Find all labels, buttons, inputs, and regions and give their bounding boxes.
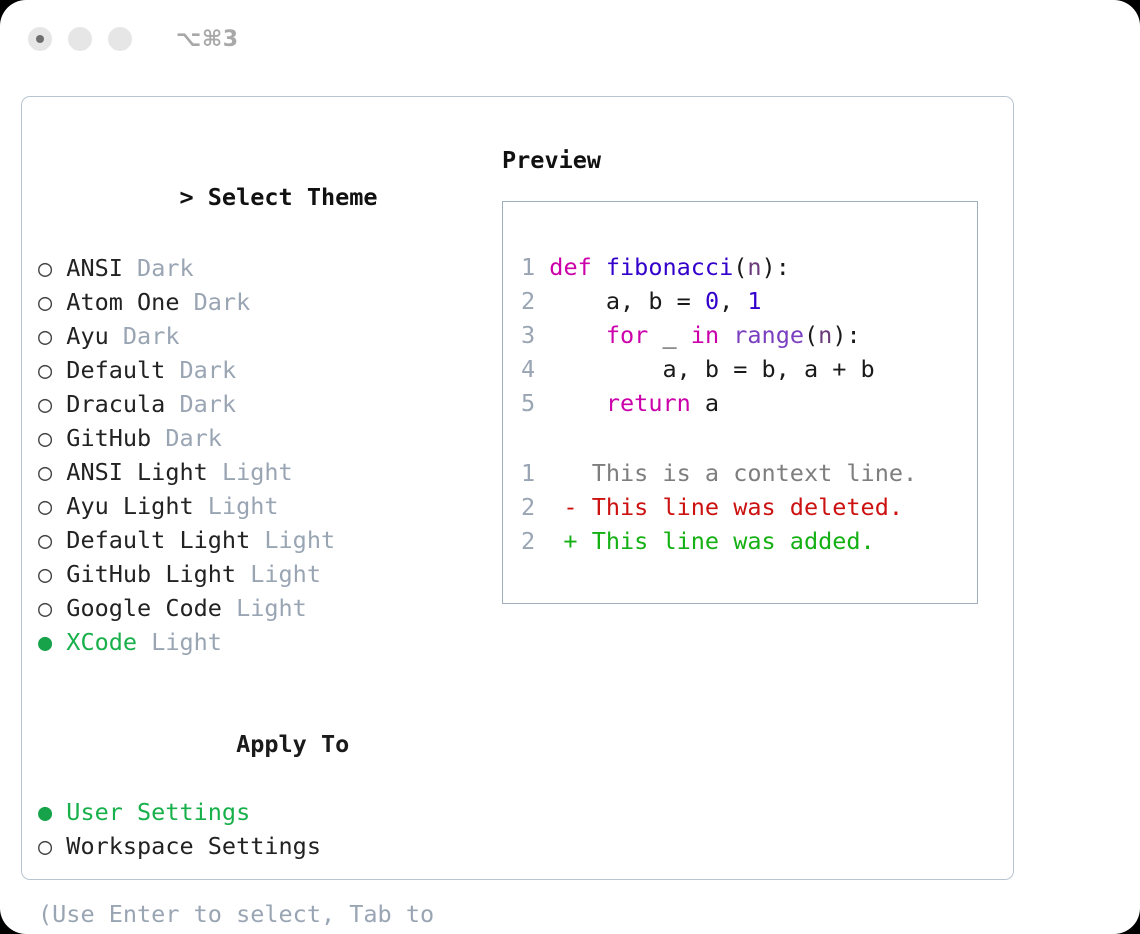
theme-list-item[interactable]: ○ Ayu Dark xyxy=(38,319,478,353)
code-preview: 1 def fibonacci(n):2 a, b = 0, 13 for _ … xyxy=(521,250,969,420)
code-token-fn: fibonacci xyxy=(606,253,733,281)
theme-name: GitHub Light xyxy=(66,560,236,588)
code-line-number: 5 xyxy=(521,386,535,420)
theme-list-item[interactable]: ● XCode Light xyxy=(38,625,478,659)
code-token-plain xyxy=(549,321,606,349)
theme-name: Atom One xyxy=(66,288,179,316)
theme-list-item[interactable]: ○ Default Light Light xyxy=(38,523,478,557)
preview-box: 1 def fibonacci(n):2 a, b = 0, 13 for _ … xyxy=(502,201,978,604)
theme-variant-tag: Light xyxy=(222,458,293,486)
app-window: ⌥⌘3 > Select Theme ○ ANSI Dark○ Atom One… xyxy=(0,0,1140,934)
code-line-number: 3 xyxy=(521,318,535,352)
code-token-punct: ( xyxy=(733,253,747,281)
code-token-plain: _ xyxy=(648,321,690,349)
code-token-plain xyxy=(549,389,606,417)
apply-to-option-label: User Settings xyxy=(66,798,250,826)
select-theme-header: > Select Theme xyxy=(38,143,478,251)
radio-unselected-icon: ○ xyxy=(38,353,52,387)
diff-line-content: - This line was deleted. xyxy=(535,493,903,521)
theme-name: ANSI Light xyxy=(66,458,207,486)
radio-unselected-icon: ○ xyxy=(38,387,52,421)
theme-name: Google Code xyxy=(66,594,222,622)
code-token-plain: a xyxy=(691,389,719,417)
code-token-plain xyxy=(719,321,733,349)
apply-to-option-label: Workspace Settings xyxy=(66,832,321,860)
apply-to-header: Apply To xyxy=(38,693,478,795)
theme-name: Dracula xyxy=(66,390,165,418)
code-line: 3 for _ in range(n): xyxy=(521,318,969,352)
theme-list: ○ ANSI Dark○ Atom One Dark○ Ayu Dark○ De… xyxy=(38,251,478,659)
close-dot-icon xyxy=(36,35,44,43)
code-line: 2 a, b = 0, 1 xyxy=(521,284,969,318)
code-token-param: n xyxy=(818,321,832,349)
code-token-num: 0 xyxy=(705,287,719,315)
code-token-builtin: range xyxy=(733,321,804,349)
radio-unselected-icon: ○ xyxy=(38,591,52,625)
diff-line-number: 1 xyxy=(521,456,535,490)
diff-line-number: 2 xyxy=(521,490,535,524)
theme-variant-tag: Dark xyxy=(180,390,237,418)
diff-line: 2 - This line was deleted. xyxy=(521,490,969,524)
apply-to-option[interactable]: ● User Settings xyxy=(38,795,478,829)
diff-line: 1 This is a context line. xyxy=(521,456,969,490)
code-line: 1 def fibonacci(n): xyxy=(521,250,969,284)
theme-list-item[interactable]: ○ Default Dark xyxy=(38,353,478,387)
code-line-number: 1 xyxy=(521,250,535,284)
select-theme-header-label: Select Theme xyxy=(208,183,378,211)
diff-preview: 1 This is a context line.2 - This line w… xyxy=(521,456,969,558)
theme-variant-tag: Light xyxy=(151,628,222,656)
theme-variant-tag: Dark xyxy=(180,356,237,384)
theme-picker-panel: > Select Theme ○ ANSI Dark○ Atom One Dar… xyxy=(21,96,1014,880)
code-token-plain: a, b = b, a + b xyxy=(549,355,874,383)
radio-unselected-icon: ○ xyxy=(38,489,52,523)
theme-list-column: > Select Theme ○ ANSI Dark○ Atom One Dar… xyxy=(38,143,478,934)
theme-list-item[interactable]: ○ ANSI Dark xyxy=(38,251,478,285)
apply-to-section: Apply To ● User Settings○ Workspace Sett… xyxy=(38,693,478,863)
theme-list-item[interactable]: ○ Atom One Dark xyxy=(38,285,478,319)
diff-line-content: This is a context line. xyxy=(535,459,917,487)
code-token-plain: , xyxy=(719,287,747,315)
radio-unselected-icon: ○ xyxy=(38,557,52,591)
code-line: 4 a, b = b, a + b xyxy=(521,352,969,386)
keyboard-hint-line-1: (Use Enter to select, Tab to xyxy=(38,897,478,931)
theme-list-item[interactable]: ○ Dracula Dark xyxy=(38,387,478,421)
theme-name: Default xyxy=(66,356,165,384)
radio-unselected-icon: ○ xyxy=(38,455,52,489)
code-token-kw: return xyxy=(606,389,691,417)
diff-line-number: 2 xyxy=(521,524,535,558)
theme-name: XCode xyxy=(66,628,137,656)
code-token-punct: ): xyxy=(762,253,790,281)
apply-to-label: Apply To xyxy=(236,730,349,758)
code-token-punct: ): xyxy=(832,321,860,349)
code-token-param: n xyxy=(747,253,761,281)
theme-variant-tag: Light xyxy=(264,526,335,554)
apply-to-options: ● User Settings○ Workspace Settings xyxy=(38,795,478,863)
radio-unselected-icon: ○ xyxy=(38,319,52,353)
apply-to-spacer xyxy=(208,727,222,761)
theme-list-item[interactable]: ○ GitHub Light Light xyxy=(38,557,478,591)
code-token-plain: a, b = xyxy=(549,287,705,315)
theme-name: Default Light xyxy=(66,526,250,554)
theme-name: Ayu xyxy=(66,322,108,350)
theme-list-item[interactable]: ○ Google Code Light xyxy=(38,591,478,625)
radio-selected-icon: ● xyxy=(38,625,52,659)
code-token-punct: ( xyxy=(804,321,818,349)
close-button-icon[interactable] xyxy=(28,27,52,51)
keyboard-hint: (Use Enter to select, Tab to change focu… xyxy=(38,897,478,934)
radio-unselected-icon: ○ xyxy=(38,421,52,455)
theme-name: GitHub xyxy=(66,424,151,452)
theme-variant-tag: Light xyxy=(250,560,321,588)
theme-variant-tag: Light xyxy=(208,492,279,520)
code-line-number: 2 xyxy=(521,284,535,318)
radio-selected-icon: ● xyxy=(38,795,52,829)
code-token-kw: for xyxy=(606,321,648,349)
diff-line-content: + This line was added. xyxy=(535,527,875,555)
theme-variant-tag: Light xyxy=(236,594,307,622)
code-line: 5 return a xyxy=(521,386,969,420)
prompt-caret-icon: > xyxy=(179,179,193,215)
title-bar: ⌥⌘3 xyxy=(0,0,1140,78)
maximize-button-icon[interactable] xyxy=(108,27,132,51)
theme-list-item[interactable]: ○ Ayu Light Light xyxy=(38,489,478,523)
radio-unselected-icon: ○ xyxy=(38,829,52,863)
minimize-button-icon[interactable] xyxy=(68,27,92,51)
apply-to-option[interactable]: ○ Workspace Settings xyxy=(38,829,478,863)
theme-variant-tag: Dark xyxy=(137,254,194,282)
preview-heading: Preview xyxy=(502,143,992,177)
code-token-kw: in xyxy=(691,321,719,349)
theme-variant-tag: Dark xyxy=(194,288,251,316)
theme-variant-tag: Dark xyxy=(165,424,222,452)
theme-name: Ayu Light xyxy=(66,492,193,520)
radio-unselected-icon: ○ xyxy=(38,251,52,285)
preview-column: Preview 1 def fibonacci(n):2 a, b = 0, 1… xyxy=(502,143,992,604)
radio-unselected-icon: ○ xyxy=(38,285,52,319)
theme-list-item[interactable]: ○ ANSI Light Light xyxy=(38,455,478,489)
theme-name: ANSI xyxy=(66,254,123,282)
theme-list-item[interactable]: ○ GitHub Dark xyxy=(38,421,478,455)
code-token-num: 1 xyxy=(747,287,761,315)
keyboard-shortcut-label: ⌥⌘3 xyxy=(176,27,239,52)
code-token-kw: def xyxy=(549,253,606,281)
theme-variant-tag: Dark xyxy=(123,322,180,350)
code-line-number: 4 xyxy=(521,352,535,386)
diff-line: 2 + This line was added. xyxy=(521,524,969,558)
radio-unselected-icon: ○ xyxy=(38,523,52,557)
